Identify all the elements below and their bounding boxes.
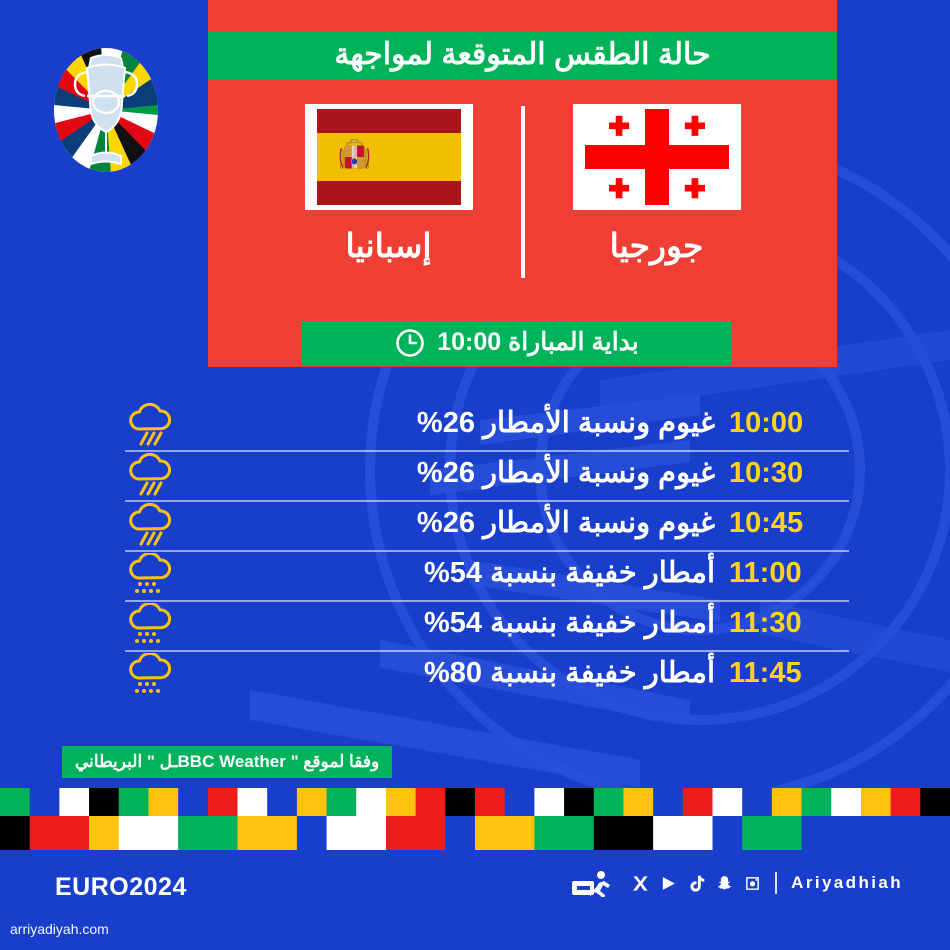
euro-2024-wordmark: EURO2024 bbox=[55, 873, 187, 902]
table-row: 10:30 غيوم ونسبة الأمطار 26% bbox=[125, 450, 849, 500]
footer-social-bar: Ariyadhiah bbox=[571, 869, 903, 897]
drizzle-cloud-icon bbox=[125, 603, 175, 647]
forecast-time: 11:45 bbox=[729, 659, 849, 688]
table-row: 10:45 غيوم ونسبة الأمطار 26% bbox=[125, 500, 849, 550]
table-row: 10:00 غيوم ونسبة الأمطار 26% bbox=[125, 400, 849, 450]
forecast-time: 10:00 bbox=[729, 409, 849, 438]
team-name-spain: إسبانيا bbox=[345, 229, 431, 262]
drizzle-cloud-icon bbox=[125, 653, 175, 697]
euro-2024-trophy-logo bbox=[47, 40, 165, 180]
x-icon[interactable] bbox=[632, 875, 649, 892]
table-row: 11:00 أمطار خفيفة بنسبة 54% bbox=[125, 550, 849, 600]
forecast-time: 10:30 bbox=[729, 459, 849, 488]
table-row: 11:45 أمطار خفيفة بنسبة 80% bbox=[125, 650, 849, 700]
forecast-description: أمطار خفيفة بنسبة 54% bbox=[175, 609, 729, 638]
forecast-description: غيوم ونسبة الأمطار 26% bbox=[175, 509, 729, 538]
teams-row: جورجيا bbox=[208, 104, 837, 294]
team-georgia: جورجيا bbox=[537, 104, 777, 262]
source-label: وفقا لموقع " BBC Weatherـل " البريطاني bbox=[75, 753, 379, 770]
forecast-list: 10:00 غيوم ونسبة الأمطار 26% 10:30 غيوم … bbox=[125, 400, 849, 700]
spain-flag bbox=[305, 104, 473, 210]
forecast-description: أمطار خفيفة بنسبة 54% bbox=[175, 559, 729, 588]
drizzle-cloud-icon bbox=[125, 553, 175, 597]
kickoff-label: بداية المباراة 10:00 bbox=[437, 330, 639, 355]
forecast-time: 10:45 bbox=[729, 509, 849, 538]
source-band: وفقا لموقع " BBC Weatherـل " البريطاني bbox=[62, 746, 392, 778]
arriyadiyah-runner-logo bbox=[571, 869, 613, 897]
team-spain: إسبانيا bbox=[269, 104, 509, 262]
euro-year: 2024 bbox=[129, 873, 187, 902]
euro-word: EURO bbox=[55, 873, 129, 902]
title-band: حالة الطقس المتوقعة لمواجهة bbox=[208, 32, 837, 80]
rain-cloud-icon bbox=[125, 453, 175, 497]
euro-color-strip bbox=[0, 788, 950, 850]
team-divider bbox=[521, 106, 525, 278]
table-row: 11:30 أمطار خفيفة بنسبة 54% bbox=[125, 600, 849, 650]
forecast-time: 11:30 bbox=[729, 609, 849, 638]
team-name-georgia: جورجيا bbox=[610, 229, 704, 262]
rain-cloud-icon bbox=[125, 403, 175, 447]
youtube-icon[interactable] bbox=[660, 875, 677, 892]
snapchat-icon[interactable] bbox=[716, 875, 733, 892]
instagram-icon[interactable] bbox=[744, 875, 761, 892]
georgia-flag bbox=[573, 104, 741, 210]
brand-name: Ariyadhiah bbox=[791, 873, 903, 893]
forecast-time: 11:00 bbox=[729, 559, 849, 588]
forecast-description: غيوم ونسبة الأمطار 26% bbox=[175, 409, 729, 438]
infographic-canvas: حالة الطقس المتوقعة لمواجهة جورجيا bbox=[0, 0, 950, 950]
forecast-description: غيوم ونسبة الأمطار 26% bbox=[175, 459, 729, 488]
page-title: حالة الطقس المتوقعة لمواجهة bbox=[334, 40, 710, 70]
website-url: arriyadiyah.com bbox=[10, 921, 109, 937]
footer-divider bbox=[775, 872, 777, 894]
kickoff-band: بداية المباراة 10:00 bbox=[302, 321, 732, 365]
rain-cloud-icon bbox=[125, 503, 175, 547]
forecast-description: أمطار خفيفة بنسبة 80% bbox=[175, 659, 729, 688]
clock-icon bbox=[395, 328, 425, 358]
tiktok-icon[interactable] bbox=[688, 875, 705, 892]
